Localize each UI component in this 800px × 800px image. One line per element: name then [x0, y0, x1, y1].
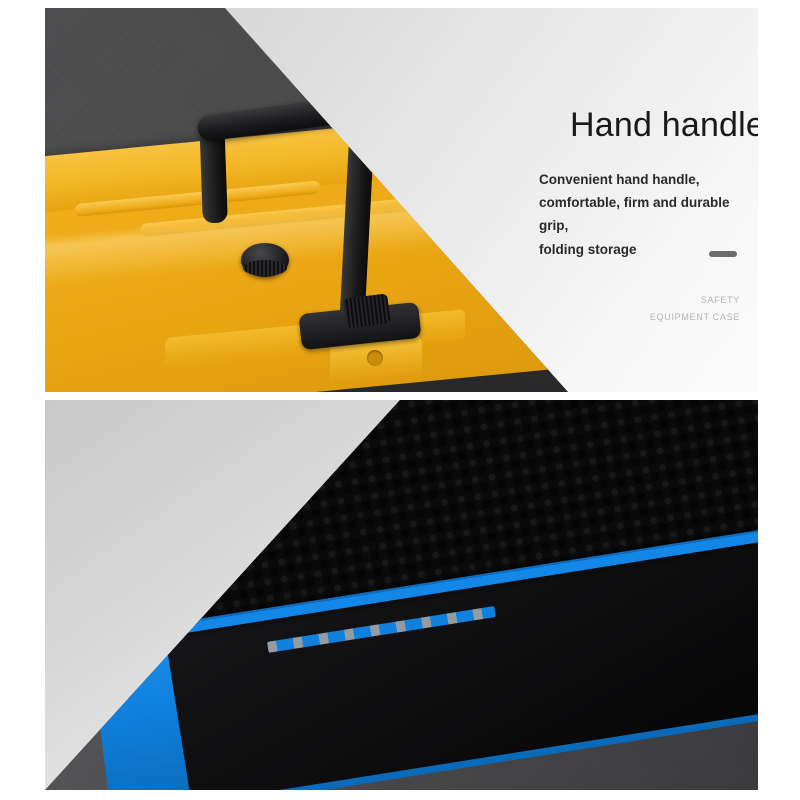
brand-caption-hand-handle: SAFETY EQUIPMENT CASE [620, 292, 740, 325]
description-line: comfortable, firm and durable grip, [539, 191, 758, 237]
feature-panel-multilayer-protection: Multilayer protection Built-in three lay… [45, 400, 758, 790]
valve-knurl [243, 260, 287, 276]
divider-dash [709, 251, 737, 257]
latch-lock-hole [367, 350, 383, 366]
page-title-hand-handle: Hand handle [570, 106, 758, 145]
description-line: folding storage [539, 238, 758, 261]
description-line: Convenient hand handle, [539, 168, 758, 191]
product-feature-collage: Hand handle Convenient hand handle, comf… [0, 0, 800, 800]
feature-description-hand-handle: Convenient hand handle, comfortable, fir… [539, 168, 758, 261]
handle-knurl-grip [343, 293, 390, 328]
product-photo-multilayer-protection [45, 400, 758, 790]
feature-panel-hand-handle: Hand handle Convenient hand handle, comf… [45, 8, 758, 392]
brand-line: SAFETY [620, 292, 740, 309]
brand-line: EQUIPMENT CASE [620, 309, 740, 326]
